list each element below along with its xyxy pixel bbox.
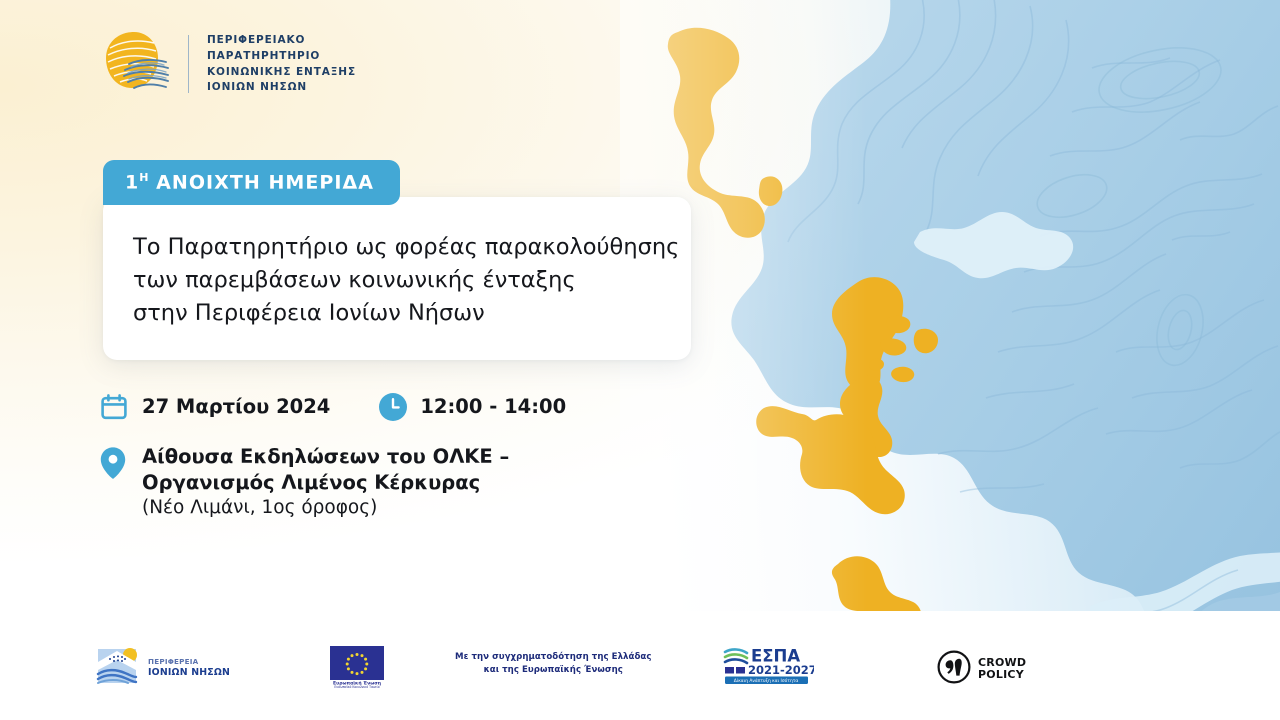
title-line-3: στην Περιφέρεια Ιονίων Νήσων <box>133 297 655 330</box>
brand-line-3: ΚΟΙΝΩΝΙΚΗΣ ΕΝΤΑΞΗΣ <box>207 65 356 80</box>
time-group: 12:00 - 14:00 <box>378 392 566 422</box>
svg-text:2021-2027: 2021-2027 <box>748 663 814 677</box>
brand-line-2: ΠΑΡΑΤΗΡΗΤΗΡΙΟ <box>207 49 356 64</box>
clock-icon <box>378 392 420 422</box>
svg-text:Ευρωπαϊκό Κοινωνικό Ταμείο: Ευρωπαϊκό Κοινωνικό Ταμείο <box>334 685 379 688</box>
date-time-row: 27 Μαρτίου 2024 12:00 - 14:00 <box>100 392 660 422</box>
brand-line-4: ΙΟΝΙΩΝ ΝΗΣΩΝ <box>207 80 356 95</box>
title-line-2: των παρεμβάσεων κοινωνικής ένταξης <box>133 264 655 297</box>
event-poster: ΠΕΡΙΦΕΡΕΙΑΚΟ ΠΑΡΑΤΗΡΗΤΗΡΙΟ ΚΟΙΝΩΝΙΚΗΣ ΕΝ… <box>0 0 1280 720</box>
badge-text: ΑΝΟΙΧΤΗ ΗΜΕΡΙΔΑ <box>156 171 374 193</box>
sun-waves-icon <box>98 28 176 100</box>
eu-flag-icon: Ευρωπαϊκή Ένωση Ευρωπαϊκό Κοινωνικό Ταμε… <box>330 646 384 692</box>
cofunding-line-2: και της Ευρωπαϊκής Ένωσης <box>455 664 652 677</box>
badge-ordinal: Η <box>139 171 148 184</box>
title-card: Το Παρατηρητήριο ως φορέας παρακολούθηση… <box>103 197 691 360</box>
crowd-policy-logo: CROWD POLICY <box>937 650 1026 688</box>
venue-line-1: Αίθουσα Εκδηλώσεων του ΟΛΚΕ – <box>142 444 509 470</box>
brand-line-1: ΠΕΡΙΦΕΡΕΙΑΚΟ <box>207 33 356 48</box>
title-line-1: Το Παρατηρητήριο ως φορέας παρακολούθηση… <box>133 231 655 264</box>
eu-flag-logo: Ευρωπαϊκή Ένωση Ευρωπαϊκό Κοινωνικό Ταμε… <box>330 646 384 692</box>
crowd-policy-icon <box>937 650 971 688</box>
badge-number: 1 <box>125 171 139 193</box>
venue-line-3: (Νέο Λιμάνι, 1ος όροφος) <box>142 496 509 521</box>
region-line-1: ΠΕΡΙΦΕΡΕΙΑ <box>148 657 230 666</box>
venue-row: Αίθουσα Εκδηλώσεων του ΟΛΚΕ – Οργανισμός… <box>100 442 660 520</box>
event-date: 27 Μαρτίου 2024 <box>142 394 330 421</box>
event-details: 27 Μαρτίου 2024 12:00 - 14:00 Α <box>100 392 660 520</box>
footer-logos: ΠΕΡΙΦΕΡΕΙΑ ΙΟΝΙΩΝ ΝΗΣΩΝ Ευρωπαϊκ <box>0 612 1280 720</box>
brand-text: ΠΕΡΙΦΕΡΕΙΑΚΟ ΠΑΡΑΤΗΡΗΤΗΡΙΟ ΚΟΙΝΩΝΙΚΗΣ ΕΝ… <box>207 33 356 96</box>
region-logo-text: ΠΕΡΙΦΕΡΕΙΑ ΙΟΝΙΩΝ ΝΗΣΩΝ <box>148 657 230 679</box>
event-time: 12:00 - 14:00 <box>420 394 566 421</box>
espa-logo: ΕΣΠΑ 2021-2027 Δίκαιη Ανάπτυξη και Ισότη… <box>722 644 814 692</box>
region-line-2: ΙΟΝΙΩΝ ΝΗΣΩΝ <box>148 667 230 679</box>
region-logo: ΠΕΡΙΦΕΡΕΙΑ ΙΟΝΙΩΝ ΝΗΣΩΝ <box>95 644 230 692</box>
cofunding-text: Με την συγχρηματοδότηση της Ελλάδας και … <box>455 651 652 677</box>
venue-line-2: Οργανισμός Λιμένος Κέρκυρας <box>142 470 509 496</box>
cofunding-line-1: Με την συγχρηματοδότηση της Ελλάδας <box>455 651 652 664</box>
brand-divider <box>188 35 189 93</box>
crowd-policy-line-2: POLICY <box>978 669 1026 681</box>
crowd-policy-text: CROWD POLICY <box>978 657 1026 680</box>
region-flag-icon <box>95 644 141 692</box>
espa-logo-icon: ΕΣΠΑ 2021-2027 Δίκαιη Ανάπτυξη και Ισότη… <box>722 644 814 692</box>
event-badge: 1Η ΑΝΟΙΧΤΗ ΗΜΕΡΙΔΑ <box>103 160 400 205</box>
venue-text: Αίθουσα Εκδηλώσεων του ΟΛΚΕ – Οργανισμός… <box>142 444 509 520</box>
brand-logo: ΠΕΡΙΦΕΡΕΙΑΚΟ ΠΑΡΑΤΗΡΗΤΗΡΙΟ ΚΟΙΝΩΝΙΚΗΣ ΕΝ… <box>98 28 356 100</box>
svg-text:Δίκαιη Ανάπτυξη και Ισότητα: Δίκαιη Ανάπτυξη και Ισότητα <box>734 677 799 684</box>
calendar-icon <box>100 393 142 421</box>
map-pin-icon <box>100 442 142 480</box>
